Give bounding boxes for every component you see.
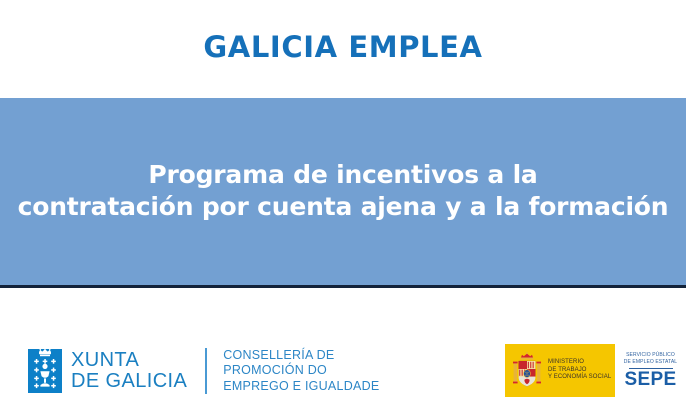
- program-banner: Programa de incentivos a la contratación…: [0, 98, 686, 285]
- conselleria-block: CONSELLERÍA DE PROMOCIÓN DO EMPREGO E IG…: [223, 348, 379, 394]
- page-title: GALICIA EMPLEA: [203, 30, 482, 68]
- spain-coat-of-arms-icon: [512, 352, 542, 389]
- banner-line-1: Programa de incentivos a la: [0, 159, 686, 191]
- sepe-wordmark: SEPE: [625, 370, 677, 389]
- ministry-line-1: MINISTERIO: [548, 359, 611, 367]
- banner-line-2: contratación por cuenta ajena y a la for…: [0, 191, 686, 223]
- xunta-de-galicia-logo: XUNTA DE GALICIA CONSELLERÍA DE PROMOCIÓ…: [28, 348, 379, 394]
- header-area: GALICIA EMPLEA: [0, 0, 686, 98]
- ministry-de-trabajo-logo: MINISTERIO DE TRABAJO Y ECONOMÍA SOCIAL: [505, 344, 615, 397]
- banner-text-block: Programa de incentivos a la contratación…: [0, 159, 686, 285]
- sepe-subtitle-line-1: SERVICIO PÚBLICO: [626, 352, 675, 359]
- conselleria-line-3: EMPREGO E IGUALDADE: [223, 379, 379, 394]
- conselleria-line-2: PROMOCIÓN DO: [223, 363, 379, 378]
- xunta-wordmark-line-1: XUNTA: [71, 350, 187, 371]
- sepe-subtitle-line-2: DE EMPLEO ESTATAL: [624, 359, 677, 366]
- footer-area: XUNTA DE GALICIA CONSELLERÍA DE PROMOCIÓ…: [0, 288, 686, 410]
- footer-vertical-divider: [205, 348, 207, 394]
- conselleria-line-1: CONSELLERÍA DE: [223, 348, 379, 363]
- xunta-coat-of-arms-icon: [28, 349, 62, 393]
- ministry-line-3: Y ECONOMÍA SOCIAL: [548, 374, 611, 382]
- sepe-logo: SERVICIO PÚBLICO DE EMPLEO ESTATAL SEPE: [615, 344, 686, 397]
- xunta-wordmark-line-2: DE GALICIA: [71, 371, 187, 392]
- xunta-wordmark: XUNTA DE GALICIA: [71, 350, 187, 392]
- ministry-sepe-logo: MINISTERIO DE TRABAJO Y ECONOMÍA SOCIAL …: [505, 344, 686, 397]
- ministry-text-block: MINISTERIO DE TRABAJO Y ECONOMÍA SOCIAL: [548, 359, 611, 382]
